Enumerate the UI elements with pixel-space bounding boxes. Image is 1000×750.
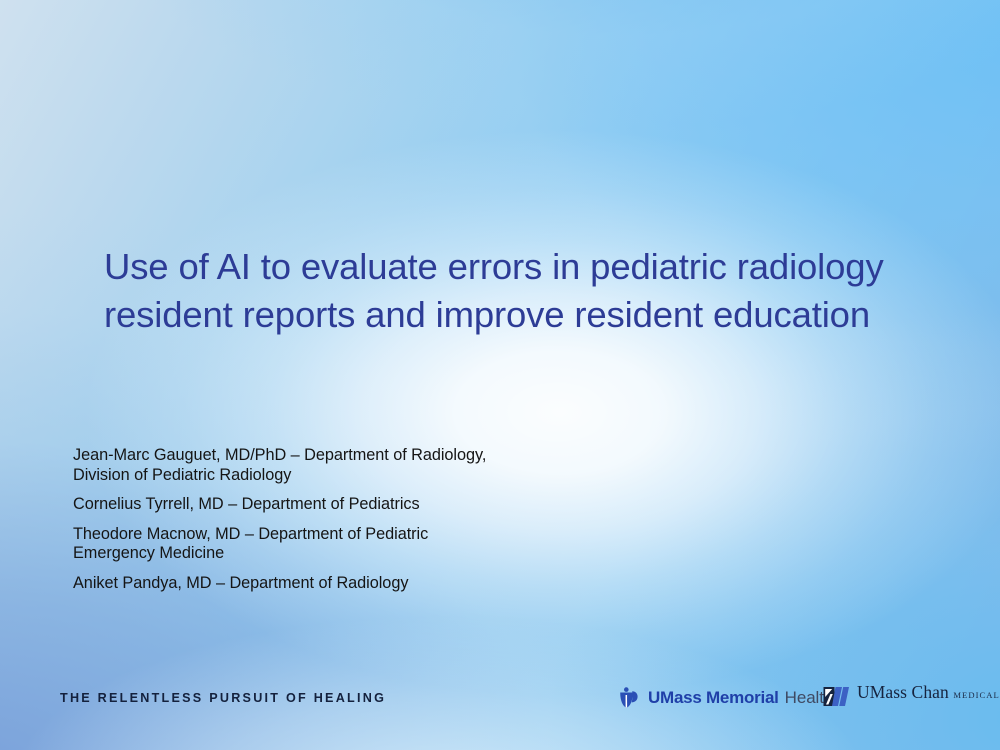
- background-bottom-haze: [0, 0, 1000, 750]
- author-entry: Aniket Pandya, MD – Department of Radiol…: [73, 574, 673, 594]
- umass-chan-medical-school-logo: UMass Chan MEDICAL SCHOOL: [823, 684, 1000, 714]
- author-affiliation-line-2: Emergency Medicine: [73, 544, 673, 564]
- umass-memorial-health-logo: UMass Memorial Health: [617, 685, 833, 711]
- author-affiliation-line-2: Division of Pediatric Radiology: [73, 466, 673, 486]
- slide-title: Use of AI to evaluate errors in pediatri…: [104, 243, 914, 339]
- author-affiliation-line-1: Aniket Pandya, MD – Department of Radiol…: [73, 574, 408, 592]
- umass-memorial-health-wordmark: UMass Memorial Health: [648, 688, 833, 708]
- background-base-gradient: [0, 0, 1000, 750]
- background-center-white-glow: [0, 0, 1000, 750]
- presentation-slide: Use of AI to evaluate errors in pediatri…: [0, 0, 1000, 750]
- author-affiliation-line-1: Jean-Marc Gauguet, MD/PhD – Department o…: [73, 446, 486, 464]
- slide-title-line-2: resident reports and improve resident ed…: [104, 291, 914, 339]
- background-periwinkle-glow: [0, 0, 1000, 750]
- umass-chan-angular-mark-icon: [823, 685, 850, 708]
- umass-chan-name-text: UMass Chan: [857, 682, 949, 702]
- background-top-band: [0, 0, 1000, 750]
- author-affiliation-line-1: Theodore Macnow, MD – Department of Pedi…: [73, 525, 428, 543]
- background-sky-blue-corners: [0, 0, 1000, 750]
- author-entry: Cornelius Tyrrell, MD – Department of Pe…: [73, 495, 673, 515]
- umass-memorial-chalice-icon: [617, 686, 641, 710]
- slide-title-line-1: Use of AI to evaluate errors in pediatri…: [104, 243, 914, 291]
- author-entry: Jean-Marc Gauguet, MD/PhD – Department o…: [73, 446, 673, 485]
- footer-tagline: THE RELENTLESS PURSUIT OF HEALING: [60, 691, 386, 705]
- author-list: Jean-Marc Gauguet, MD/PhD – Department o…: [73, 446, 673, 593]
- umass-chan-wordmark: UMass Chan MEDICAL SCHOOL: [857, 684, 1000, 703]
- author-affiliation-line-1: Cornelius Tyrrell, MD – Department of Pe…: [73, 495, 420, 513]
- medical-school-text: MEDICAL SCHOOL: [953, 690, 1000, 700]
- umass-memorial-text: UMass Memorial: [648, 688, 779, 708]
- author-entry: Theodore Macnow, MD – Department of Pedi…: [73, 525, 673, 564]
